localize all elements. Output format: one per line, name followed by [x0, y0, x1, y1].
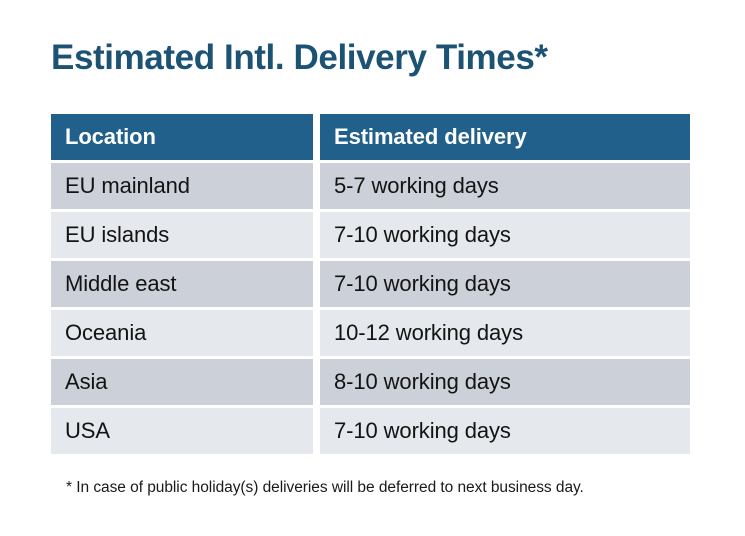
- table-row: Middle east 7-10 working days: [51, 261, 690, 307]
- delivery-table-wrapper: Location Estimated delivery EU mainland …: [44, 111, 697, 457]
- table-body: EU mainland 5-7 working days EU islands …: [51, 163, 690, 454]
- table-row: EU islands 7-10 working days: [51, 212, 690, 258]
- footnote-text: * In case of public holiday(s) deliverie…: [66, 479, 584, 497]
- table-row: Oceania 10-12 working days: [51, 310, 690, 356]
- table-header-row: Location Estimated delivery: [51, 114, 690, 160]
- cell-delivery: 5-7 working days: [320, 163, 690, 209]
- cell-location: EU mainland: [51, 163, 313, 209]
- cell-location: Oceania: [51, 310, 313, 356]
- table-header: Location Estimated delivery: [51, 114, 690, 160]
- cell-delivery: 7-10 working days: [320, 212, 690, 258]
- cell-delivery: 8-10 working days: [320, 359, 690, 405]
- cell-delivery: 7-10 working days: [320, 408, 690, 454]
- table-row: EU mainland 5-7 working days: [51, 163, 690, 209]
- cell-delivery: 10-12 working days: [320, 310, 690, 356]
- table-row: Asia 8-10 working days: [51, 359, 690, 405]
- cell-location: EU islands: [51, 212, 313, 258]
- table-row: USA 7-10 working days: [51, 408, 690, 454]
- cell-delivery: 7-10 working days: [320, 261, 690, 307]
- column-header-estimated-delivery: Estimated delivery: [320, 114, 690, 160]
- page-title: Estimated Intl. Delivery Times*: [51, 36, 548, 80]
- column-header-location: Location: [51, 114, 313, 160]
- cell-location: USA: [51, 408, 313, 454]
- delivery-times-table: Location Estimated delivery EU mainland …: [44, 111, 697, 457]
- cell-location: Asia: [51, 359, 313, 405]
- delivery-times-card: Estimated Intl. Delivery Times* Location…: [0, 0, 745, 536]
- cell-location: Middle east: [51, 261, 313, 307]
